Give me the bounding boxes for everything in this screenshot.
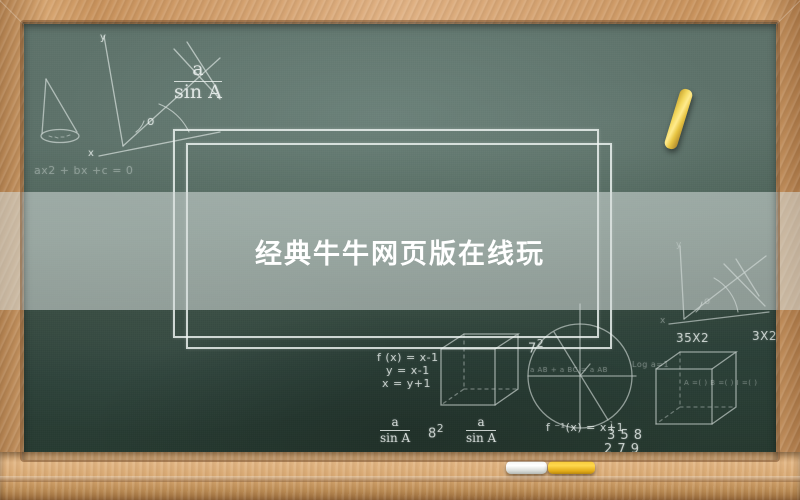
chalk-stick-yellow-on-ledge (548, 461, 595, 474)
chalkboard-banner-image: a sin A y x o ax2 + bx +c = 0 y x o f (x… (0, 0, 800, 500)
ledge-front-lip (0, 476, 800, 482)
board-inset-shadow (22, 22, 778, 460)
chalk-stick-white-on-ledge (506, 461, 547, 474)
